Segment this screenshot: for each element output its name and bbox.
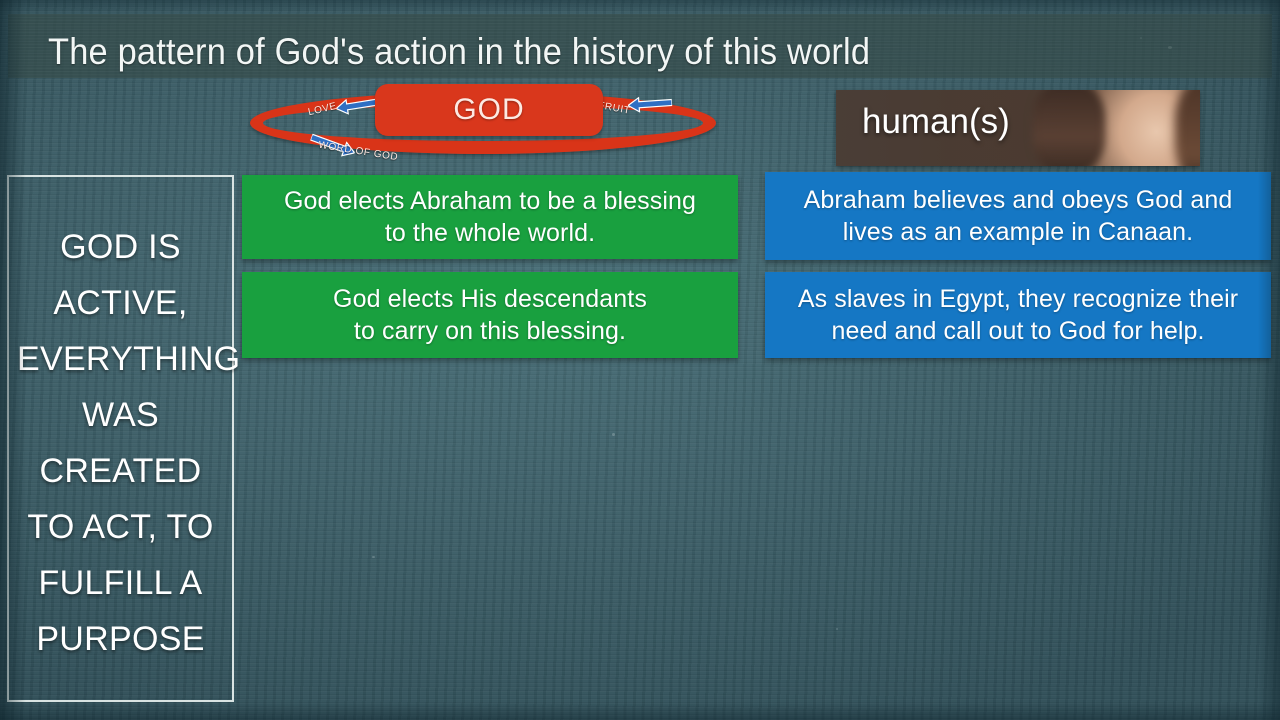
arrow-left-icon	[627, 94, 672, 113]
speck	[836, 628, 838, 630]
speck	[612, 433, 615, 436]
human-label: human(s)	[862, 102, 1010, 142]
title-band: The pattern of God's action in the histo…	[8, 14, 1272, 78]
left-summary-text: GOD IS ACTIVE, EVERYTHING WAS CREATED TO…	[9, 219, 232, 667]
human-photo: human(s)	[836, 90, 1200, 166]
god-center-label: GOD	[375, 84, 603, 136]
page-title: The pattern of God's action in the histo…	[48, 31, 870, 73]
slide-canvas: The pattern of God's action in the histo…	[0, 0, 1280, 720]
god-center-box: GOD	[375, 84, 603, 136]
statement-god-elects-descendants: God elects His descendants to carry on t…	[242, 272, 738, 358]
god-cycle-diagram: LOVE WORD OF GOD FRUIT GOD	[250, 84, 720, 156]
statement-god-elects-abraham: God elects Abraham to be a blessing to t…	[242, 175, 738, 259]
speck	[372, 556, 375, 558]
left-summary-panel: GOD IS ACTIVE, EVERYTHING WAS CREATED TO…	[7, 175, 234, 702]
statement-slaves-in-egypt: As slaves in Egypt, they recognize their…	[765, 272, 1271, 358]
statement-abraham-believes: Abraham believes and obeys God and lives…	[765, 172, 1271, 260]
